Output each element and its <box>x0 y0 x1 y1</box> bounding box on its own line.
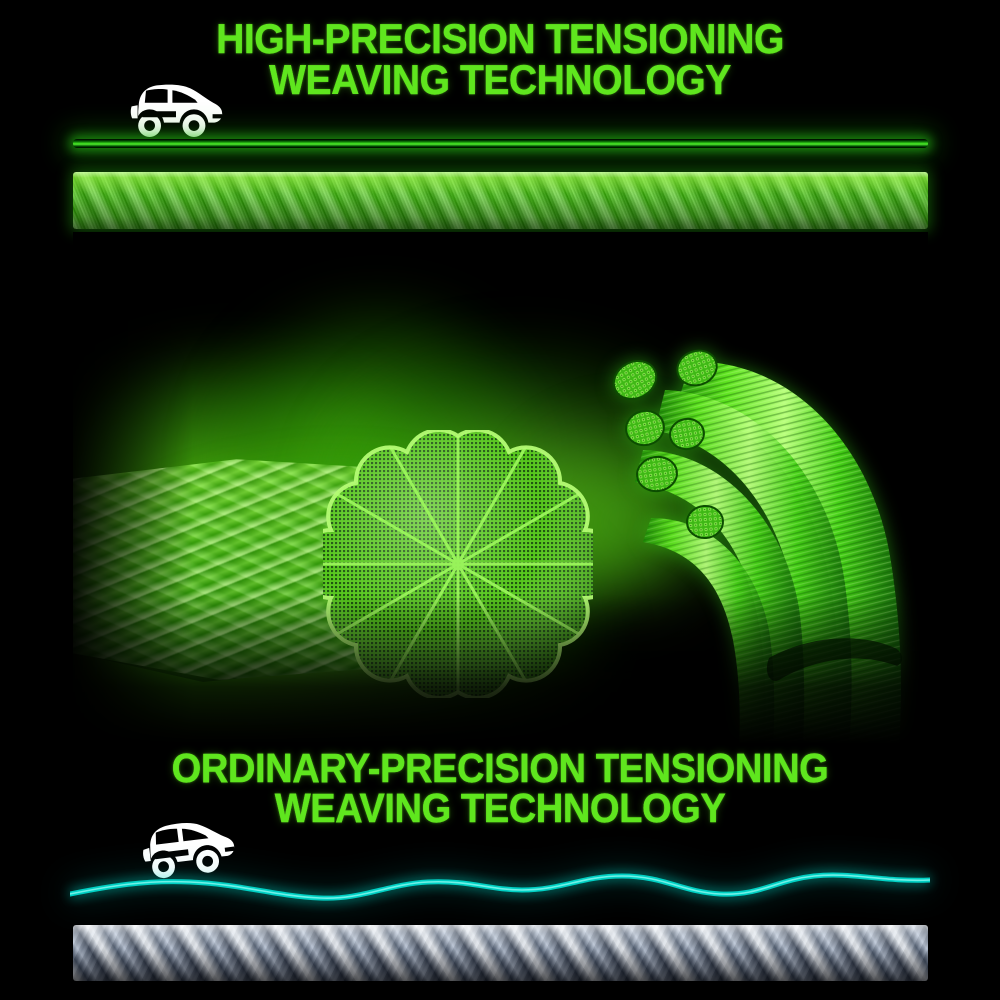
hero-image-panel <box>73 232 928 744</box>
product-infographic-poster: HIGH-PRECISION TENSIONING WEAVING TECHNO… <box>0 0 1000 1000</box>
straight-glow-road-line <box>73 139 928 148</box>
bottom-headline: ORDINARY-PRECISION TENSIONING WEAVING TE… <box>35 748 965 828</box>
fiber-strand-bundle <box>573 322 928 744</box>
green-braided-rope <box>73 172 928 229</box>
grey-braided-rope <box>73 925 928 981</box>
wavy-glow-road-line <box>70 858 930 918</box>
top-headline-line1: HIGH-PRECISION TENSIONING <box>216 15 784 62</box>
rope-cross-section <box>323 430 593 698</box>
suv-car-icon <box>128 80 224 142</box>
